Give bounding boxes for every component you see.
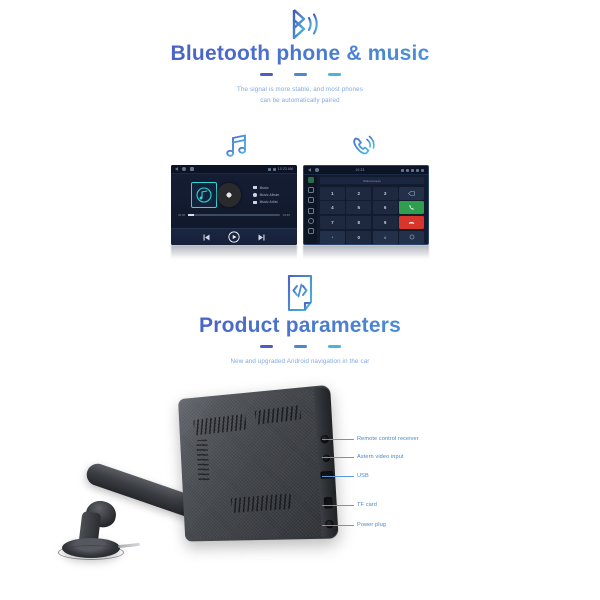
callout-leader-line [322,457,354,458]
bluetooth-icon [401,169,404,172]
callout-leader-line [322,476,354,477]
bluetooth-status-icon[interactable] [308,228,314,234]
dial-key-1[interactable]: 1 [320,187,345,200]
panel-reflection [303,245,429,259]
track-album: Music Album [260,193,280,197]
home-icon[interactable] [315,168,319,172]
music-icon [253,186,257,190]
callout-group: Remote control receiver Astern video inp… [0,384,600,600]
time-elapsed: 00:00 [178,213,185,217]
subtitle-line-1: The signal is more stable, and most phon… [0,85,600,96]
bluetooth-subtitle: The signal is more stable, and most phon… [0,85,600,107]
bluetooth-icon [0,6,600,42]
album-art-row: Music Music Album Music Artist [171,174,297,208]
artist-icon [253,201,257,205]
status-time: 10:23 AM [278,167,293,171]
dial-key-4[interactable]: 4 [320,201,345,214]
bluetooth-section: Bluetooth phone & music The signal is mo… [0,6,600,107]
dial-key-9[interactable]: 9 [373,216,398,229]
callout-leader-line [322,439,354,440]
car-navigation-monitor-rear-view: Remote control receiver Astern video inp… [0,384,600,600]
title-divider [0,73,600,76]
volume-icon [406,169,409,172]
dialer-sidebar [304,175,317,245]
product-listing-page: Bluetooth phone & music The signal is mo… [0,0,600,600]
callout-remote-control-receiver: Remote control receiver [322,436,419,442]
feature-icon-row [0,126,600,166]
product-parameters-section: Product parameters New and upgraded Andr… [0,272,600,368]
divider-dash [294,345,307,348]
callout-label: TF card [357,502,377,508]
track-title: Music [260,186,269,190]
status-time: 10:23 [356,168,365,172]
dialpad-grid: 1 2 3 4 5 6 7 [320,187,424,245]
callout-label: Power plug [357,522,386,528]
search-icon[interactable] [308,218,314,224]
product-parameters-subtitle: New and upgraded Android navigation in t… [0,357,600,368]
signal-icon [268,168,271,171]
dialer-main: Disconnect 1 2 3 4 5 6 [317,175,428,245]
album-icon [253,193,257,197]
back-arrow-icon[interactable] [421,169,424,172]
previous-track-button[interactable] [202,233,211,242]
callout-label: Astern video input [357,454,404,460]
back-icon[interactable] [308,168,311,172]
divider-dash [260,345,273,348]
panel-reflection [171,245,297,259]
recent-calls-icon[interactable] [308,208,314,214]
music-player-body: Music Music Album Music Artist [171,174,297,245]
wifi-icon [273,168,276,171]
vinyl-disc-icon [217,183,241,207]
end-call-button[interactable] [399,216,424,229]
callout-label: USB [357,473,369,479]
dial-key-3[interactable]: 3 [373,187,398,200]
divider-dash [294,73,307,76]
more-options-key[interactable] [399,231,424,244]
recents-icon[interactable] [190,167,194,171]
backspace-key[interactable] [399,187,424,200]
divider-dash [328,73,341,76]
transport-controls [171,228,297,245]
dial-key-star[interactable]: * [320,231,345,244]
divider-dash [260,73,273,76]
time-total: 03:45 [283,213,290,217]
callout-leader-line [322,525,354,526]
list-item: Music [253,186,279,190]
home-icon[interactable] [182,167,186,171]
callout-astern-video-input: Astern video input [322,454,404,460]
status-badge: Disconnect [363,179,380,183]
callout-usb: USB [322,473,369,479]
dial-key-7[interactable]: 7 [320,216,345,229]
device-screenshot-row: 10:23 AM [0,165,600,261]
dial-key-2[interactable]: 2 [346,187,371,200]
track-metadata: Music Music Album Music Artist [253,186,279,205]
call-button[interactable] [399,201,424,214]
music-panel-wrapper: 10:23 AM [171,165,297,261]
music-note-icon [217,126,257,166]
callout-power-plug: Power plug [322,522,386,528]
section-title: Product parameters [0,314,600,337]
dial-key-6[interactable]: 6 [373,201,398,214]
apps-icon[interactable] [411,169,414,172]
dialer-body: Disconnect 1 2 3 4 5 6 [304,175,428,245]
callout-tf-card: TF card [322,502,377,508]
list-item: Music Album [253,193,279,197]
divider-dash [328,345,341,348]
dial-key-8[interactable]: 8 [346,216,371,229]
play-pause-button[interactable] [228,231,240,243]
track-artist: Music Artist [260,200,278,204]
dialer-panel-wrapper: 10:23 [303,165,429,261]
call-history-icon[interactable] [308,197,314,203]
title-divider [0,345,600,348]
subtitle-line-2: can be automatically paired [0,96,600,107]
android-status-bar: 10:23 AM [171,165,297,174]
phone-dialer-screenshot[interactable]: 10:23 [303,165,429,245]
progress-slider[interactable] [188,214,280,215]
connection-status-field[interactable]: Disconnect [320,177,424,184]
android-status-bar: 10:23 [304,166,428,175]
progress-row[interactable]: 00:00 03:45 [171,208,297,217]
settings-icon[interactable] [416,169,419,172]
dial-key-hash[interactable]: # [373,231,398,244]
album-cover-art [191,182,217,208]
phone-call-icon [343,126,383,166]
dialpad-icon[interactable] [308,187,314,193]
list-item: Music Artist [253,200,279,204]
code-document-icon [0,272,600,314]
back-icon[interactable] [175,167,178,171]
next-track-button[interactable] [257,233,266,242]
dial-key-5[interactable]: 5 [346,201,371,214]
dial-key-0[interactable]: 0 [346,231,371,244]
contacts-icon[interactable] [308,177,314,183]
page-title: Bluetooth phone & music [0,42,600,65]
callout-leader-line [322,505,354,506]
music-player-screenshot[interactable]: 10:23 AM [171,165,297,245]
callout-label: Remote control receiver [357,436,419,442]
